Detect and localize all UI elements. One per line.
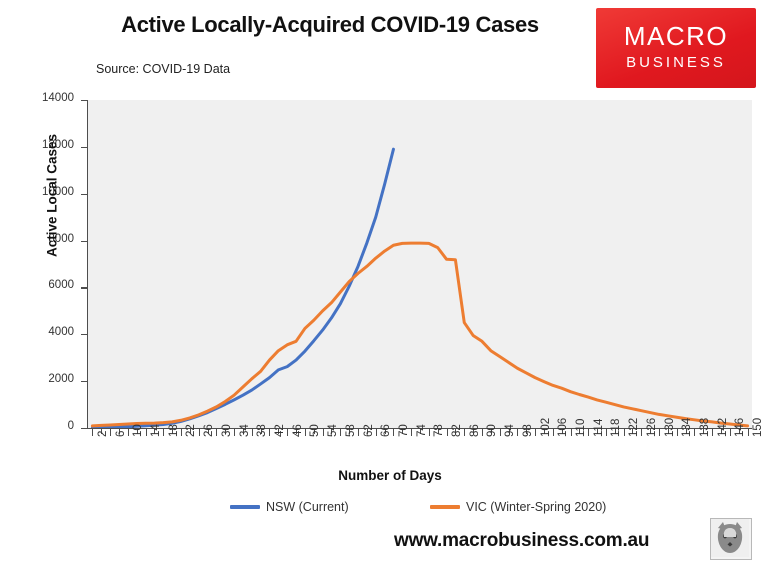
x-tick-mark: [606, 429, 607, 436]
x-tick-mark: [163, 429, 164, 436]
x-tick-mark: [624, 429, 625, 436]
x-tick-mark: [447, 429, 448, 436]
x-tick-label: 138: [699, 418, 711, 437]
x-tick-label: 114: [593, 419, 605, 437]
y-tick-mark: [81, 334, 87, 335]
x-tick-label: 126: [646, 418, 658, 437]
x-tick-label: 54: [327, 424, 339, 437]
x-tick-label: 86: [469, 424, 481, 437]
logo-business-text: BUSINESS: [626, 53, 726, 73]
x-tick-label: 22: [185, 424, 197, 437]
y-tick-mark: [81, 241, 87, 242]
x-tick-label: 142: [717, 418, 729, 437]
x-tick-mark: [376, 429, 377, 436]
x-tick-mark: [340, 429, 341, 436]
x-tick-label: 94: [504, 424, 516, 437]
legend-label-vic: VIC (Winter-Spring 2020): [466, 500, 606, 514]
x-tick-label: 106: [557, 418, 569, 437]
chart-series-layer: [88, 100, 752, 428]
x-tick-label: 38: [256, 424, 268, 437]
x-tick-label: 134: [681, 418, 693, 437]
x-tick-mark: [659, 429, 660, 436]
page-title: Active Locally-Acquired COVID-19 Cases: [70, 12, 590, 38]
x-tick-mark: [641, 429, 642, 436]
x-axis-title: Number of Days: [290, 468, 490, 483]
x-tick-mark: [464, 429, 465, 436]
x-tick-mark: [199, 429, 200, 436]
site-url: www.macrobusiness.com.au: [394, 530, 649, 552]
x-tick-mark: [571, 429, 572, 436]
chart-legend: NSW (Current) VIC (Winter-Spring 2020): [230, 500, 650, 520]
y-tick-mark: [81, 147, 87, 148]
x-tick-label: 70: [398, 424, 410, 437]
y-tick-label: 4000: [14, 326, 74, 338]
x-tick-label: 46: [292, 424, 304, 437]
y-tick-mark: [81, 194, 87, 195]
x-tick-label: 18: [168, 424, 180, 437]
x-tick-label: 34: [239, 424, 251, 437]
x-tick-mark: [323, 429, 324, 436]
wolf-thumbnail-image: [710, 518, 752, 560]
x-tick-mark: [748, 429, 749, 436]
chart-source-label: Source: COVID-19 Data: [96, 62, 230, 76]
x-tick-mark: [269, 429, 270, 436]
x-tick-mark: [110, 429, 111, 436]
x-tick-label: 146: [734, 418, 746, 437]
x-tick-mark: [146, 429, 147, 436]
x-tick-label: 6: [115, 431, 127, 437]
x-tick-mark: [92, 429, 93, 436]
x-tick-label: 2: [97, 431, 109, 437]
plot-area: [88, 100, 752, 428]
series-line-vic: [92, 243, 747, 426]
x-tick-label: 50: [309, 424, 321, 437]
x-tick-label: 78: [433, 424, 445, 437]
x-tick-mark: [252, 429, 253, 436]
x-tick-mark: [128, 429, 129, 436]
x-tick-label: 14: [150, 424, 162, 437]
x-tick-label: 74: [416, 424, 428, 437]
x-tick-label: 30: [221, 424, 233, 437]
x-tick-label: 42: [274, 424, 286, 437]
x-tick-label: 26: [203, 424, 215, 437]
y-tick-mark: [81, 287, 87, 288]
y-tick-mark: [81, 428, 87, 429]
macrobusiness-logo: MACRO BUSINESS: [596, 8, 756, 88]
x-tick-mark: [500, 429, 501, 436]
y-tick-mark: [81, 100, 87, 101]
x-tick-mark: [287, 429, 288, 436]
x-tick-mark: [411, 429, 412, 436]
x-tick-label: 98: [522, 424, 534, 437]
x-tick-label: 150: [752, 418, 764, 437]
x-tick-mark: [393, 429, 394, 436]
x-tick-label: 130: [664, 418, 676, 437]
y-axis-title: Active Local Cases: [45, 106, 60, 286]
x-tick-mark: [535, 429, 536, 436]
logo-macro-text: MACRO: [624, 23, 728, 50]
x-tick-label: 118: [610, 419, 622, 437]
legend-item-nsw[interactable]: NSW (Current): [230, 500, 349, 514]
chart-page: Active Locally-Acquired COVID-19 Cases S…: [0, 0, 769, 565]
legend-swatch-vic: [430, 505, 460, 508]
x-tick-mark: [517, 429, 518, 436]
x-tick-label: 58: [345, 424, 357, 437]
legend-label-nsw: NSW (Current): [266, 500, 349, 514]
x-tick-mark: [588, 429, 589, 436]
wolf-icon: [711, 519, 749, 557]
x-tick-label: 66: [380, 424, 392, 437]
x-tick-mark: [482, 429, 483, 436]
x-tick-mark: [234, 429, 235, 436]
y-tick-label: 2000: [14, 373, 74, 385]
x-tick-mark: [305, 429, 306, 436]
y-axis-line: [87, 100, 88, 429]
legend-item-vic[interactable]: VIC (Winter-Spring 2020): [430, 500, 606, 514]
y-tick-mark: [81, 381, 87, 382]
x-tick-mark: [730, 429, 731, 436]
x-tick-label: 62: [363, 424, 375, 437]
x-tick-mark: [216, 429, 217, 436]
x-tick-label: 10: [132, 424, 144, 437]
x-tick-mark: [181, 429, 182, 436]
x-tick-label: 122: [628, 418, 640, 437]
legend-swatch-nsw: [230, 505, 260, 508]
x-tick-label: 82: [451, 424, 463, 437]
x-tick-mark: [677, 429, 678, 436]
y-tick-label: 0: [14, 420, 74, 432]
x-tick-mark: [694, 429, 695, 436]
x-tick-label: 90: [486, 424, 498, 437]
x-tick-mark: [712, 429, 713, 436]
x-tick-mark: [553, 429, 554, 436]
x-tick-label: 102: [540, 418, 552, 437]
x-tick-mark: [358, 429, 359, 436]
y-tick-label: 14000: [14, 92, 74, 104]
x-tick-label: 110: [575, 419, 587, 437]
x-tick-mark: [429, 429, 430, 436]
